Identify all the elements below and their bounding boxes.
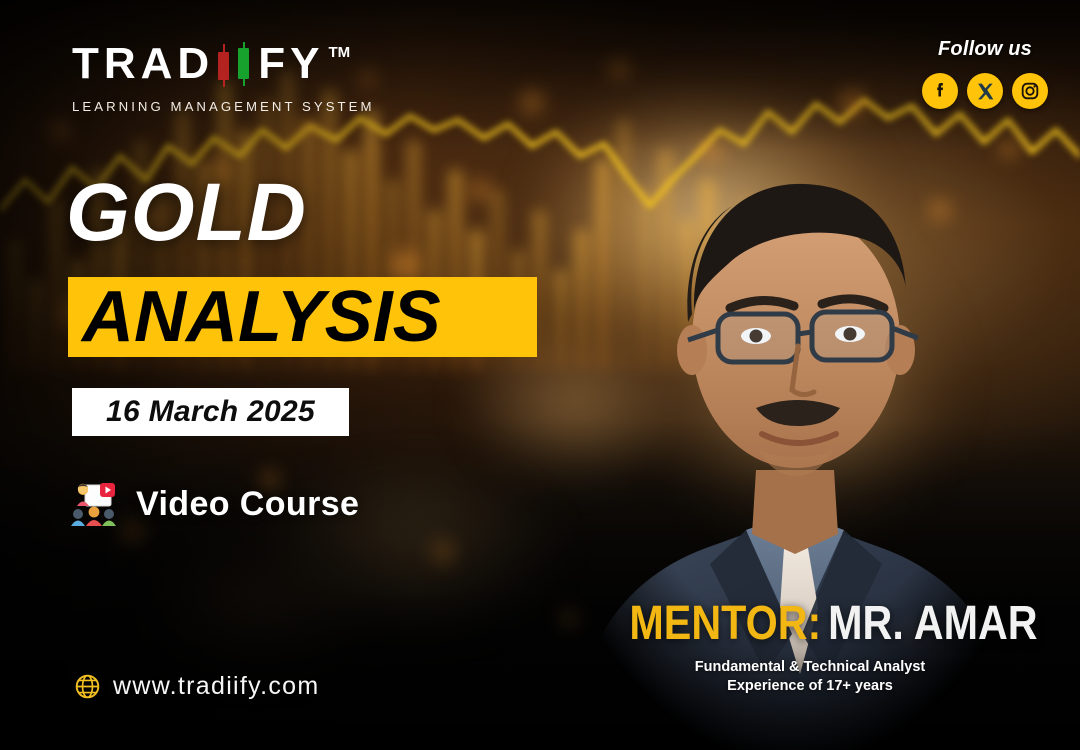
- promo-banner: TRAD FY TM LEARNING MANAGEMENT SYSTEM Fo…: [0, 0, 1080, 750]
- headline-line-1: GOLD: [66, 172, 307, 254]
- x-twitter-icon[interactable]: [967, 73, 1003, 109]
- mentor-heading: MENTOR:MR. AMAR: [629, 600, 990, 648]
- mentor-role: Fundamental & Technical Analyst: [600, 658, 1020, 677]
- follow-us-label: Follow us: [922, 38, 1048, 61]
- mentor-experience: Experience of 17+ years: [600, 677, 1020, 696]
- trademark-symbol: TM: [328, 44, 350, 61]
- brand-logo[interactable]: TRAD FY TM LEARNING MANAGEMENT SYSTEM: [72, 42, 375, 114]
- course-format-block: Video Course: [68, 478, 359, 530]
- instagram-icon[interactable]: [1012, 73, 1048, 109]
- mentor-credentials: Fundamental & Technical Analyst Experien…: [600, 658, 1020, 695]
- globe-icon: [74, 673, 101, 700]
- facebook-icon[interactable]: [922, 73, 958, 109]
- follow-us-block: Follow us: [922, 38, 1048, 109]
- event-date-box: 16 March 2025: [72, 388, 349, 436]
- mentor-block: MENTOR:MR. AMAR Fundamental & Technical …: [600, 600, 1020, 695]
- mentor-prefix: MENTOR:: [629, 597, 821, 650]
- logo-candlestick-icon: [217, 42, 255, 88]
- event-date: 16 March 2025: [106, 395, 315, 429]
- logo-tagline: LEARNING MANAGEMENT SYSTEM: [72, 99, 375, 114]
- logo-text-part1: TRAD: [72, 42, 214, 86]
- presenter-screen-icon: [68, 478, 120, 530]
- logo-text-part2: FY: [258, 42, 324, 86]
- headline-highlight-box: ANALYSIS: [68, 277, 537, 357]
- website-url: www.tradiify.com: [113, 672, 319, 701]
- mentor-name: MR. AMAR: [828, 597, 1037, 650]
- headline-line-2: ANALYSIS: [82, 281, 441, 353]
- social-links: [922, 73, 1048, 109]
- course-format-label: Video Course: [136, 485, 359, 524]
- website-block[interactable]: www.tradiify.com: [74, 672, 319, 701]
